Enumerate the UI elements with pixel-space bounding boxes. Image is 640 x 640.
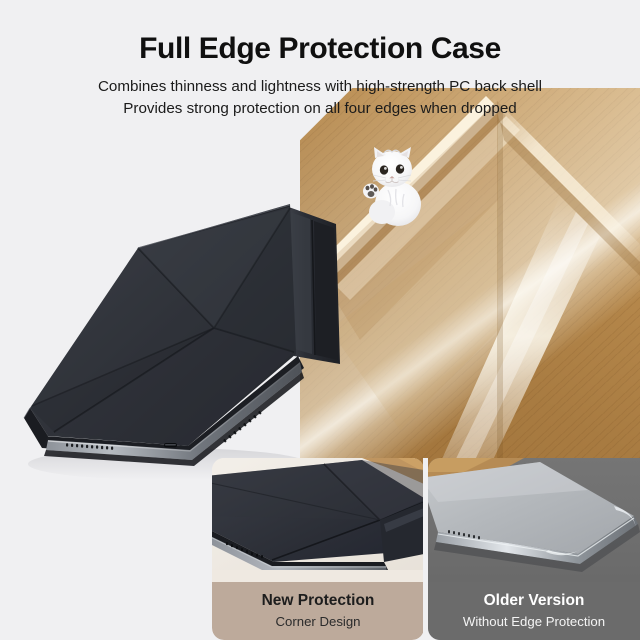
comparison-panel-older-version: Older Version Without Edge Protection — [428, 458, 640, 640]
new-protection-caption: New Protection Corner Design — [212, 582, 424, 640]
subtitle-line-1: Combines thinness and lightness with hig… — [0, 65, 640, 98]
new-protection-photo — [212, 458, 424, 582]
bare-tablet-corner-closeup — [428, 458, 640, 582]
new-protection-title: New Protection — [262, 592, 375, 611]
older-version-subtitle: Without Edge Protection — [463, 611, 605, 631]
case-corner-closeup — [212, 458, 424, 582]
product-marketing-image: New Protection Corner Design — [0, 0, 640, 640]
panel-divider — [423, 458, 428, 640]
page-title: Full Edge Protection Case — [0, 0, 640, 65]
subtitle-line-2: Provides strong protection on all four e… — [0, 98, 640, 120]
older-version-title: Older Version — [484, 592, 585, 611]
header-block: Full Edge Protection Case Combines thinn… — [0, 0, 640, 120]
older-version-photo — [428, 458, 640, 582]
new-protection-subtitle: Corner Design — [275, 611, 360, 631]
older-version-caption: Older Version Without Edge Protection — [428, 582, 640, 640]
comparison-panel-new-protection: New Protection Corner Design — [212, 458, 424, 640]
